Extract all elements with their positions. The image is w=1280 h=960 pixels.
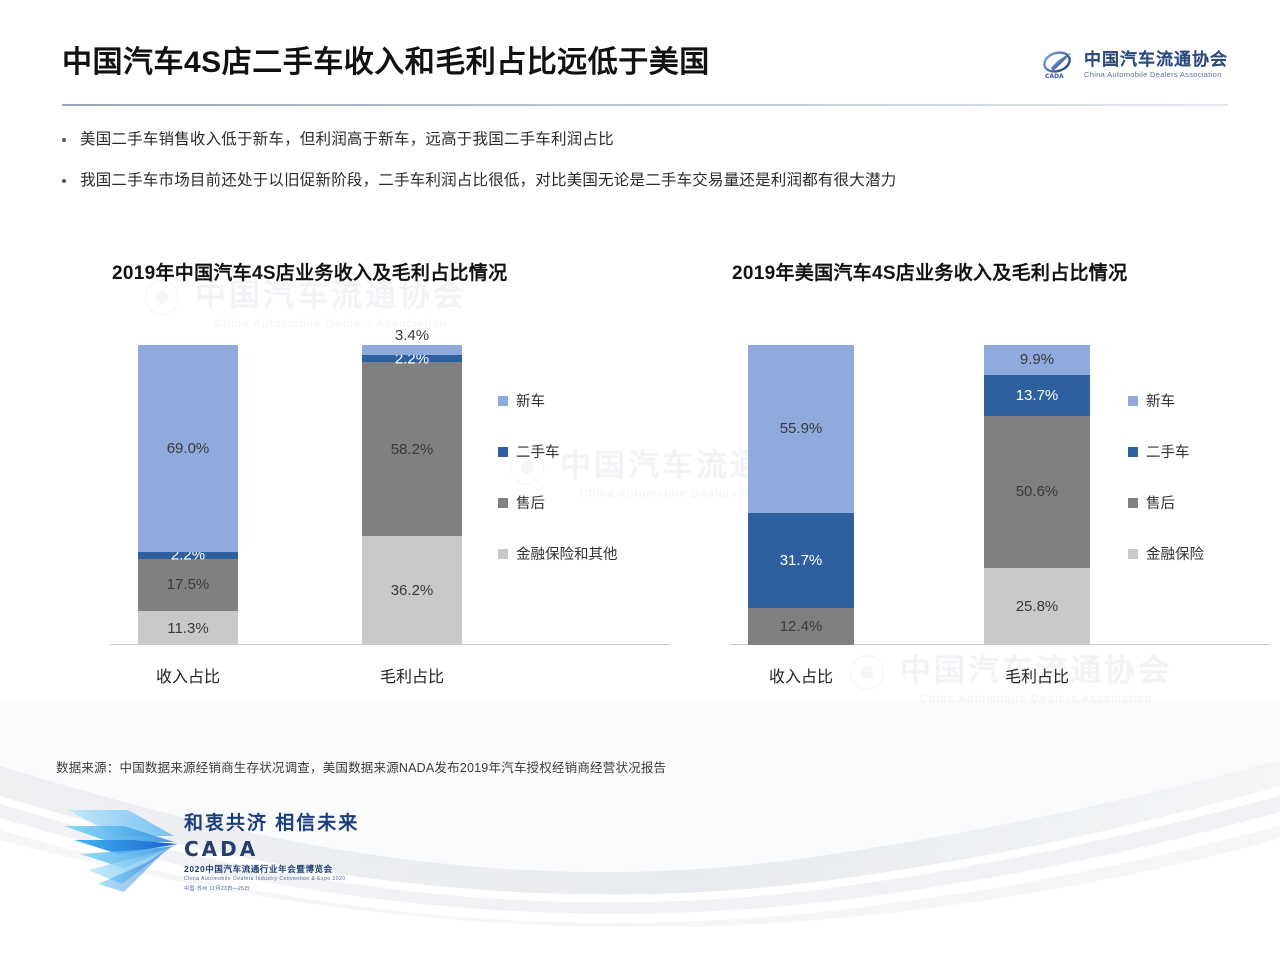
bar-segment: 3.4% <box>362 345 462 355</box>
legend-label: 新车 <box>1146 390 1175 411</box>
legend-label: 金融保险和其他 <box>516 543 618 564</box>
legend-label: 售后 <box>1146 492 1175 513</box>
cada-emblem-icon: CADA <box>1042 50 1076 80</box>
event-logo: 和衷共济 相信未来 CADA 2020中国汽车流通行业年会暨博览会 China … <box>62 792 362 902</box>
bar-value-label: 58.2% <box>391 441 434 458</box>
legend-item[interactable]: 金融保险 <box>1128 543 1204 564</box>
bar-segment: 55.9% <box>748 345 854 513</box>
bar-value-label: 25.8% <box>1016 598 1059 615</box>
x-axis-label: 收入占比 <box>156 663 220 687</box>
chart-legend: 新车二手车售后金融保险和其他 <box>498 390 618 564</box>
bar-value-label: 9.9% <box>1020 351 1054 368</box>
bar-segment: 31.7% <box>748 513 854 608</box>
x-axis-label: 毛利占比 <box>1005 663 1069 687</box>
legend-item[interactable]: 二手车 <box>498 441 618 462</box>
bar-value-label: 13.7% <box>1016 387 1059 404</box>
legend-item[interactable]: 售后 <box>498 492 618 513</box>
bullet-dot-icon <box>62 138 66 142</box>
bar-group: 12.4%31.7%55.9%收入占比 <box>748 345 854 645</box>
bar-value-label: 12.4% <box>780 618 823 635</box>
bar-segment: 25.8% <box>984 568 1090 645</box>
legend-label: 二手车 <box>516 441 560 462</box>
bullet-text: 我国二手车市场目前还处于以旧促新阶段，二手车利润占比很低，对比美国无论是二手车交… <box>80 169 896 192</box>
event-cada-wordmark: CADA <box>184 837 359 861</box>
chart-usa: 2019年美国汽车4S店业务收入及毛利占比情况 12.4%31.7%55.9%收… <box>720 250 1280 730</box>
bar-group: 36.2%58.2%2.2%3.4%毛利占比 <box>362 345 462 645</box>
stacked-bar: 36.2%58.2%2.2%3.4%毛利占比 <box>362 345 462 645</box>
slide-canvas: CADA 中国汽车流通协会 China Automobile Dealers A… <box>0 0 1280 960</box>
legend-label: 金融保险 <box>1146 543 1204 564</box>
x-axis-label: 毛利占比 <box>380 663 444 687</box>
association-logo: CADA 中国汽车流通协会 China Automobile Dealers A… <box>1042 50 1228 80</box>
legend-item[interactable]: 售后 <box>1128 492 1204 513</box>
bar-segment: 69.0% <box>138 345 238 552</box>
stacked-bar: 11.3%17.5%2.2%69.0%收入占比 <box>138 345 238 645</box>
event-subtitle-cn: 2020中国汽车流通行业年会暨博览会 <box>184 863 359 875</box>
bar-segment: 36.2% <box>362 536 462 645</box>
legend-item[interactable]: 金融保险和其他 <box>498 543 618 564</box>
bar-segment: 2.2% <box>362 355 462 362</box>
legend-item[interactable]: 新车 <box>1128 390 1204 411</box>
legend-item[interactable]: 新车 <box>498 390 618 411</box>
bar-segment: 11.3% <box>138 611 238 645</box>
chart-legend: 新车二手车售后金融保险 <box>1128 390 1204 564</box>
event-slogan: 和衷共济 相信未来 <box>184 808 359 835</box>
title-divider <box>62 104 1228 106</box>
legend-label: 二手车 <box>1146 441 1190 462</box>
bar-segment: 58.2% <box>362 362 462 537</box>
stacked-bar: 25.8%50.6%13.7%9.9%毛利占比 <box>984 345 1090 645</box>
legend-swatch-icon <box>1128 498 1138 508</box>
chart-china: 2019年中国汽车4S店业务收入及毛利占比情况 11.3%17.5%2.2%69… <box>100 250 680 730</box>
event-subtitle-en: China Automobile Dealers Industry Conven… <box>184 876 359 882</box>
legend-swatch-icon <box>498 396 508 406</box>
brand-name-en: China Automobile Dealers Association <box>1084 71 1228 79</box>
list-item: 美国二手车销售收入低于新车，但利润高于新车，远高于我国二手车利润占比 <box>62 128 896 151</box>
legend-label: 售后 <box>516 492 545 513</box>
bar-value-label: 31.7% <box>780 552 823 569</box>
legend-label: 新车 <box>516 390 545 411</box>
chart-title: 2019年中国汽车4S店业务收入及毛利占比情况 <box>112 258 507 285</box>
bar-segment: 17.5% <box>138 559 238 612</box>
bar-group: 11.3%17.5%2.2%69.0%收入占比 <box>138 345 238 645</box>
chart-title: 2019年美国汽车4S店业务收入及毛利占比情况 <box>732 258 1127 285</box>
bullet-dot-icon <box>62 179 66 183</box>
legend-swatch-icon <box>1128 549 1138 559</box>
svg-text:CADA: CADA <box>1045 73 1064 80</box>
bar-value-label: 17.5% <box>167 576 210 593</box>
bar-segment: 13.7% <box>984 375 1090 416</box>
brand-name-cn: 中国汽车流通协会 <box>1084 51 1228 68</box>
bar-value-label: 55.9% <box>780 420 823 437</box>
bar-segment: 12.4% <box>748 608 854 645</box>
list-item: 我国二手车市场目前还处于以旧促新阶段，二手车利润占比很低，对比美国无论是二手车交… <box>62 169 896 192</box>
legend-swatch-icon <box>1128 447 1138 457</box>
bar-value-label: 11.3% <box>167 620 208 637</box>
bar-group: 25.8%50.6%13.7%9.9%毛利占比 <box>984 345 1090 645</box>
bullet-list: 美国二手车销售收入低于新车，但利润高于新车，远高于我国二手车利润占比 我国二手车… <box>62 128 896 211</box>
bar-segment: 50.6% <box>984 416 1090 568</box>
event-venue-date: 中国·苏州 11月23日—25日 <box>184 885 359 892</box>
bar-value-label: 3.4% <box>395 327 429 344</box>
bar-value-label: 69.0% <box>167 440 210 457</box>
legend-item[interactable]: 二手车 <box>1128 441 1204 462</box>
legend-swatch-icon <box>498 447 508 457</box>
legend-swatch-icon <box>498 498 508 508</box>
bar-segment: 2.2% <box>138 552 238 559</box>
bullet-text: 美国二手车销售收入低于新车，但利润高于新车，远高于我国二手车利润占比 <box>80 128 614 151</box>
bar-value-label: 50.6% <box>1016 483 1059 500</box>
legend-swatch-icon <box>1128 396 1138 406</box>
bar-segment: 9.9% <box>984 345 1090 375</box>
x-axis-label: 收入占比 <box>769 663 833 687</box>
bar-value-label: 36.2% <box>391 582 434 599</box>
stacked-bar: 12.4%31.7%55.9%收入占比 <box>748 345 854 645</box>
source-note: 数据来源：中国数据来源经销商生存状况调查，美国数据来源NADA发布2019年汽车… <box>56 757 666 776</box>
blue-arrow-burst-icon <box>62 792 192 902</box>
legend-swatch-icon <box>498 549 508 559</box>
